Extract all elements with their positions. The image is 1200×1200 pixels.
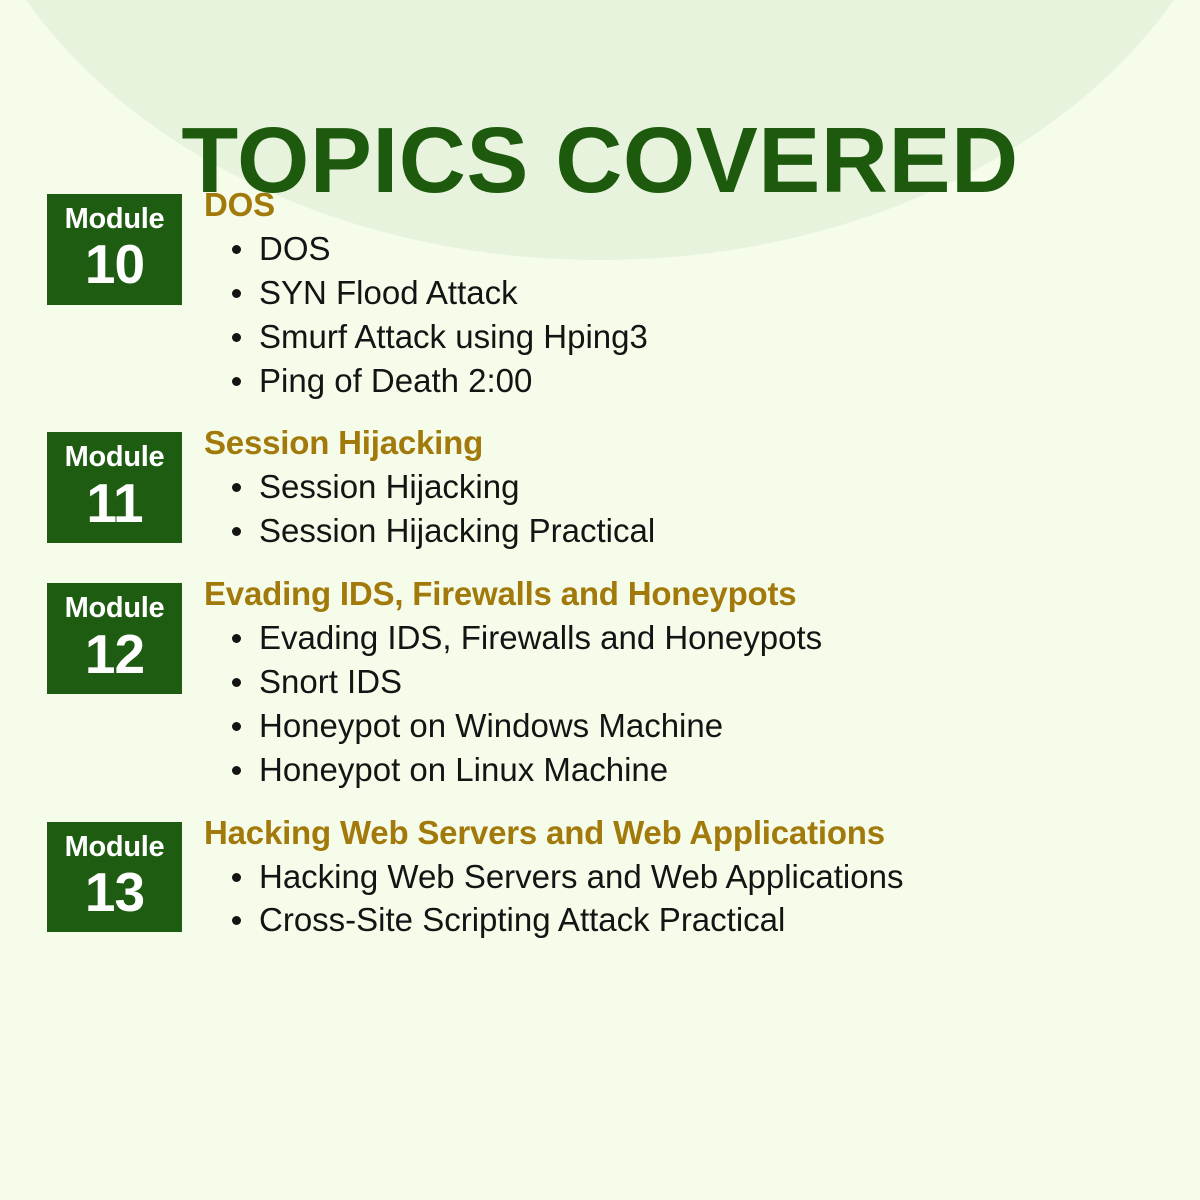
module-body: DOSDOSSYN Flood AttackSmurf Attack using…: [182, 186, 1200, 402]
module-heading: DOS: [204, 186, 1200, 225]
module-badge-number: 12: [47, 626, 182, 682]
topic-label: Evading IDS, Firewalls and Honeypots: [259, 619, 822, 656]
topic-list-item: Honeypot on Linux Machine: [204, 748, 1200, 792]
module-badge: Module10: [47, 194, 182, 305]
topic-list: DOSSYN Flood AttackSmurf Attack using Hp…: [204, 227, 1200, 403]
bullet-icon: [232, 766, 241, 775]
module-list: Module10DOSDOSSYN Flood AttackSmurf Atta…: [0, 186, 1200, 964]
topic-list-item: Cross-Site Scripting Attack Practical: [204, 898, 1200, 942]
module-row: Module12Evading IDS, Firewalls and Honey…: [0, 575, 1200, 791]
bullet-icon: [232, 873, 241, 882]
topic-list: Evading IDS, Firewalls and HoneypotsSnor…: [204, 616, 1200, 792]
module-badge: Module12: [47, 583, 182, 694]
bullet-icon: [232, 634, 241, 643]
topic-list-item: Smurf Attack using Hping3: [204, 315, 1200, 359]
module-body: Session HijackingSession HijackingSessio…: [182, 424, 1200, 553]
module-heading: Session Hijacking: [204, 424, 1200, 463]
module-badge-label: Module: [47, 593, 182, 623]
topic-list-item: Evading IDS, Firewalls and Honeypots: [204, 616, 1200, 660]
module-badge-number: 11: [47, 475, 182, 531]
module-row: Module11Session HijackingSession Hijacki…: [0, 424, 1200, 553]
module-heading: Evading IDS, Firewalls and Honeypots: [204, 575, 1200, 614]
slide-canvas: TOPICS COVERED Module10DOSDOSSYN Flood A…: [0, 0, 1200, 1200]
module-badge-label: Module: [47, 442, 182, 472]
topic-label: Smurf Attack using Hping3: [259, 318, 648, 355]
topic-label: SYN Flood Attack: [259, 274, 518, 311]
topic-label: Session Hijacking Practical: [259, 512, 655, 549]
bullet-icon: [232, 289, 241, 298]
bullet-icon: [232, 245, 241, 254]
topic-label: Honeypot on Windows Machine: [259, 707, 723, 744]
module-row: Module13Hacking Web Servers and Web Appl…: [0, 814, 1200, 943]
topic-label: Honeypot on Linux Machine: [259, 751, 668, 788]
topic-label: DOS: [259, 230, 331, 267]
bullet-icon: [232, 527, 241, 536]
topic-list-item: Session Hijacking: [204, 465, 1200, 509]
topic-label: Ping of Death 2:00: [259, 362, 532, 399]
topic-list-item: Honeypot on Windows Machine: [204, 704, 1200, 748]
topic-label: Snort IDS: [259, 663, 402, 700]
topic-label: Cross-Site Scripting Attack Practical: [259, 901, 785, 938]
module-body: Hacking Web Servers and Web Applications…: [182, 814, 1200, 943]
bullet-icon: [232, 722, 241, 731]
module-row: Module10DOSDOSSYN Flood AttackSmurf Atta…: [0, 186, 1200, 402]
bullet-icon: [232, 678, 241, 687]
bullet-icon: [232, 333, 241, 342]
topic-list: Hacking Web Servers and Web Applications…: [204, 855, 1200, 943]
module-body: Evading IDS, Firewalls and HoneypotsEvad…: [182, 575, 1200, 791]
module-badge-label: Module: [47, 204, 182, 234]
topic-list-item: Snort IDS: [204, 660, 1200, 704]
topic-label: Hacking Web Servers and Web Applications: [259, 858, 903, 895]
bullet-icon: [232, 483, 241, 492]
topic-list-item: Hacking Web Servers and Web Applications: [204, 855, 1200, 899]
module-badge-number: 13: [47, 864, 182, 920]
module-badge-number: 10: [47, 236, 182, 292]
topic-list-item: SYN Flood Attack: [204, 271, 1200, 315]
topic-list-item: Session Hijacking Practical: [204, 509, 1200, 553]
module-heading: Hacking Web Servers and Web Applications: [204, 814, 1200, 853]
module-badge-label: Module: [47, 832, 182, 862]
bullet-icon: [232, 916, 241, 925]
topic-list-item: Ping of Death 2:00: [204, 359, 1200, 403]
module-badge: Module13: [47, 822, 182, 933]
topic-list: Session HijackingSession Hijacking Pract…: [204, 465, 1200, 553]
bullet-icon: [232, 377, 241, 386]
topic-label: Session Hijacking: [259, 468, 519, 505]
module-badge: Module11: [47, 432, 182, 543]
topic-list-item: DOS: [204, 227, 1200, 271]
